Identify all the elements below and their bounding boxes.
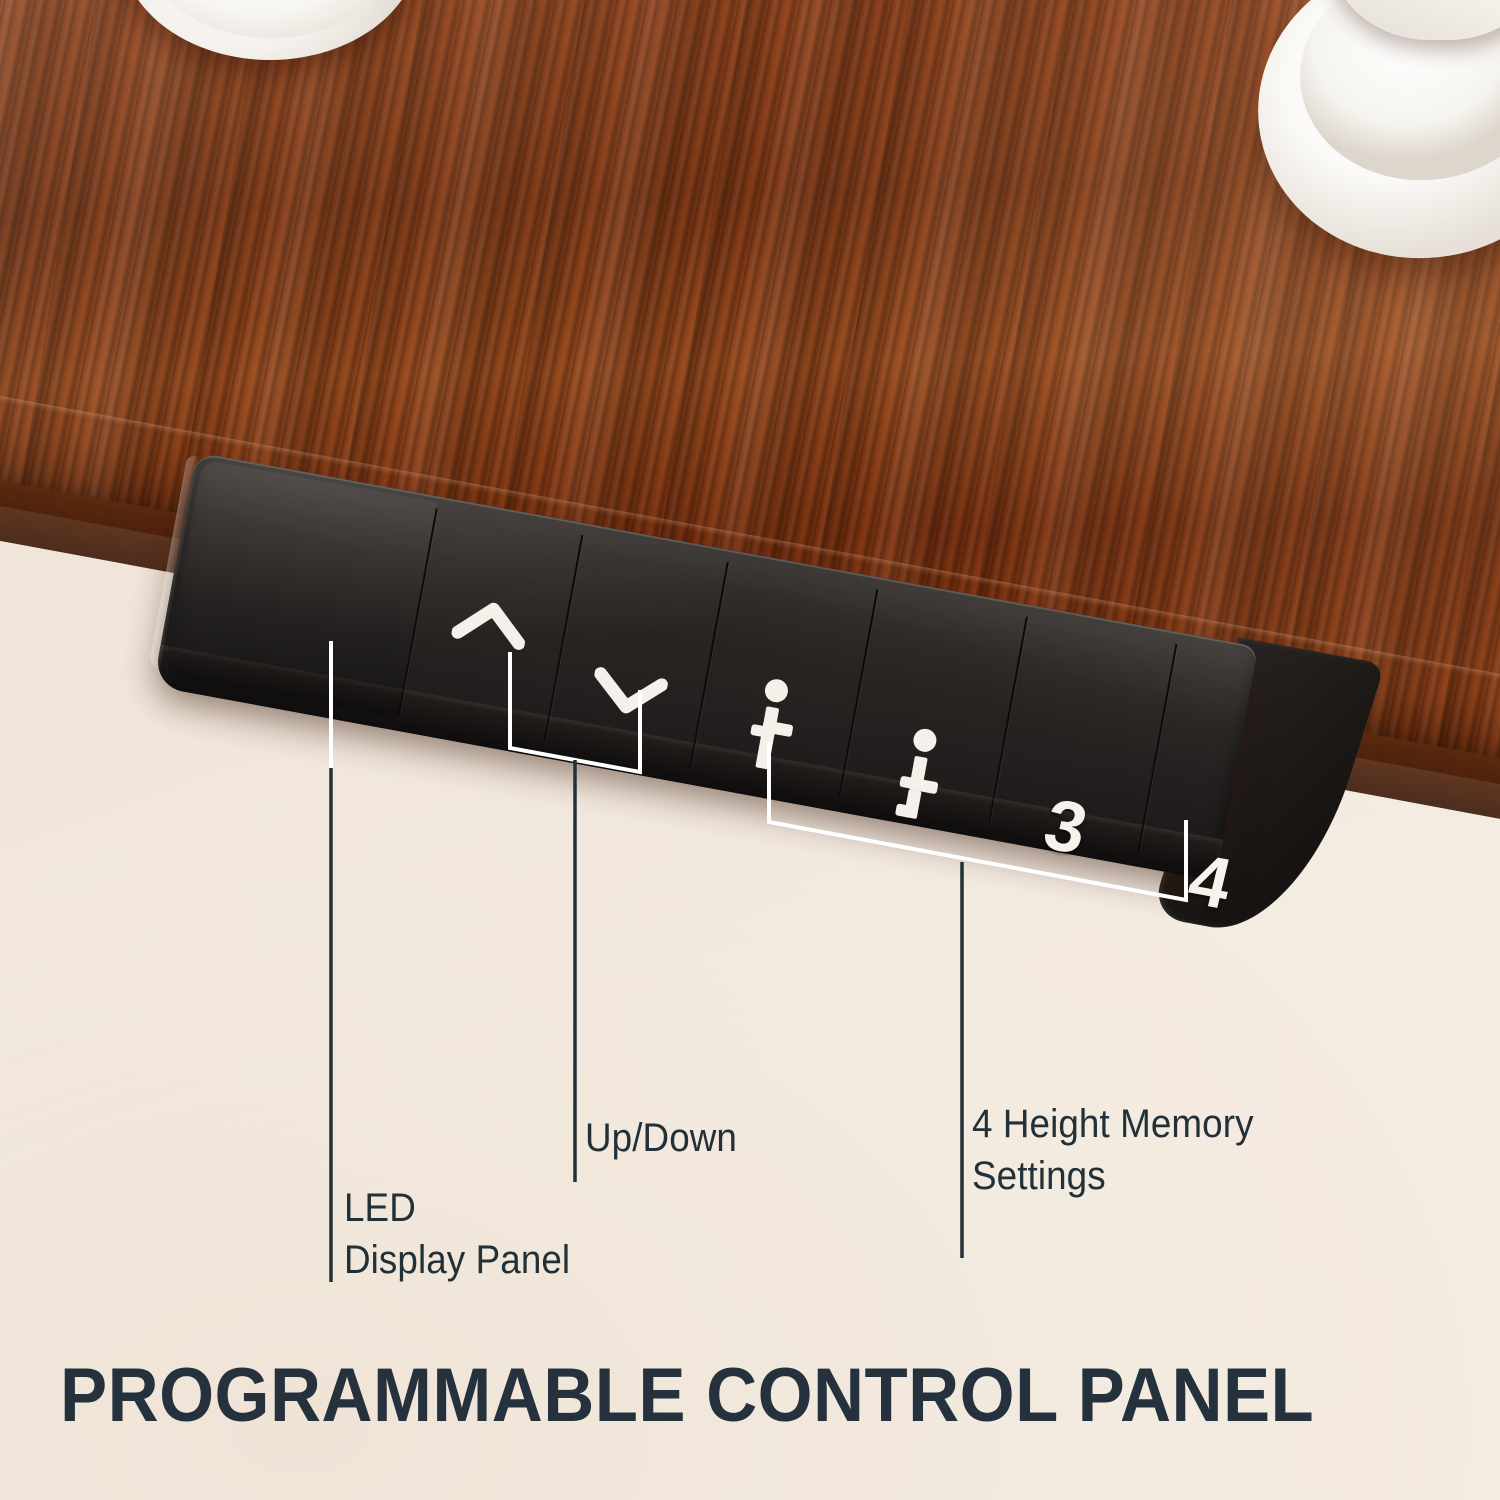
standing-person-icon [737, 674, 812, 785]
led-display-panel[interactable] [163, 459, 437, 718]
button-memory-4-label: 4 [1182, 843, 1238, 920]
chevron-down-icon [588, 660, 670, 725]
headline: PROGRAMMABLE CONTROL PANEL [60, 1352, 1314, 1439]
callout-label-led-display-panel: LED Display Panel [344, 1182, 570, 1286]
button-memory-3-label: 3 [1038, 788, 1094, 865]
callout-label-height-memory: 4 Height Memory Settings [972, 1098, 1254, 1202]
chevron-up-icon [450, 592, 532, 657]
product-image-stage: 3 4 LED Display Panel Up/Down 4 Height M… [0, 0, 1500, 1500]
callout-label-up-down: Up/Down [585, 1112, 737, 1164]
sitting-person-icon [884, 723, 957, 829]
